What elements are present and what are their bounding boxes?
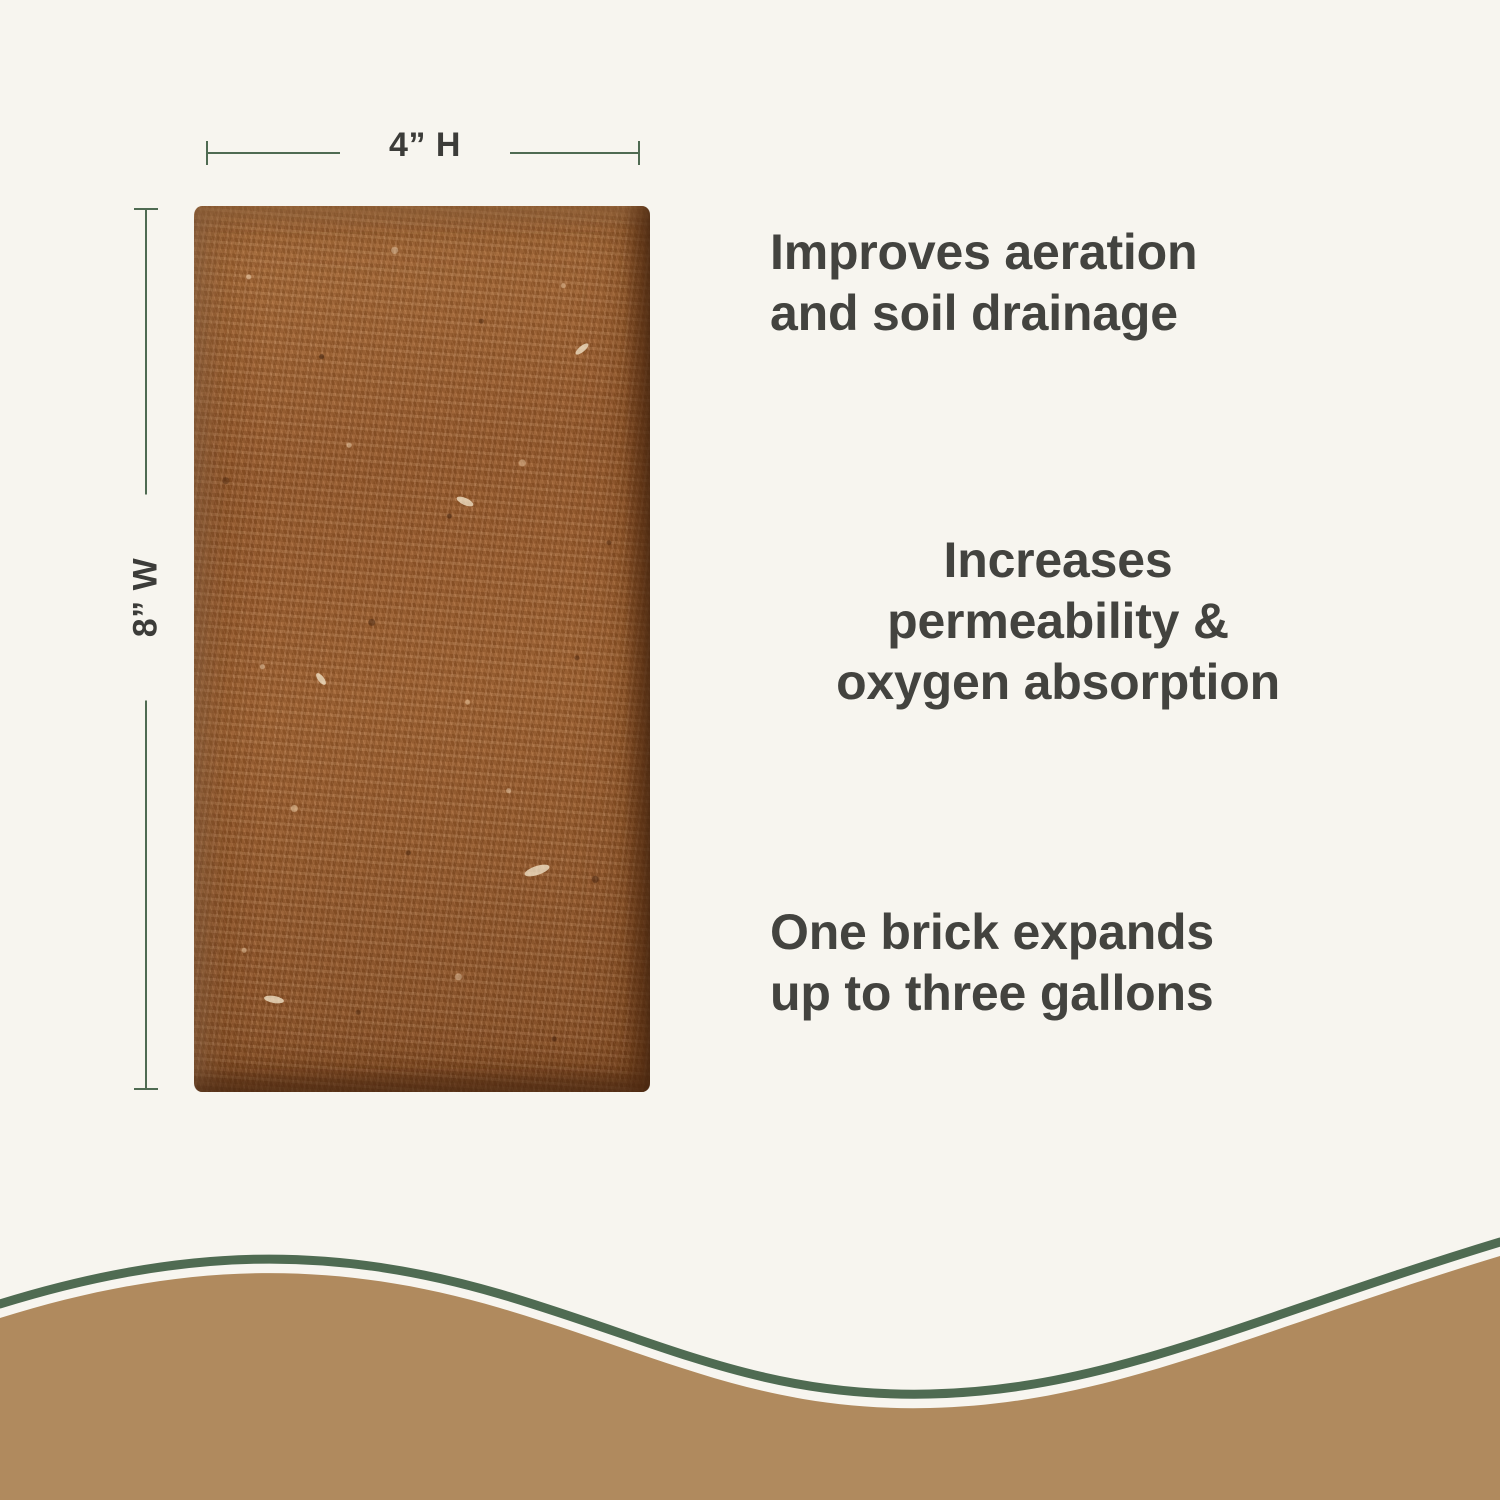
brick-right-edge bbox=[624, 206, 650, 1092]
height-dimension-cap-bottom bbox=[134, 1088, 158, 1090]
brick-fiber-fleck bbox=[455, 495, 474, 509]
feature-2-line-1: Increases bbox=[738, 530, 1378, 591]
brick-fiber-fleck bbox=[314, 672, 327, 687]
brick-top-edge bbox=[194, 206, 650, 222]
feature-1-line-1: Improves aeration bbox=[770, 222, 1390, 283]
product-infographic: 4” H 8” W Improves aeration and soil dra… bbox=[0, 0, 1500, 1500]
width-dimension-label: 4” H bbox=[340, 126, 510, 165]
feature-text-permeability: Increases permeability & oxygen absorpti… bbox=[738, 530, 1378, 713]
brick-fiber-fleck bbox=[264, 994, 285, 1004]
brick-bottom-edge bbox=[194, 1070, 650, 1092]
feature-2-line-3: oxygen absorption bbox=[738, 652, 1378, 713]
feature-3-line-1: One brick expands bbox=[770, 902, 1390, 963]
width-dimension-cap-left bbox=[206, 141, 208, 165]
height-dimension-label: 8” W bbox=[123, 495, 170, 701]
feature-3-line-2: up to three gallons bbox=[770, 963, 1390, 1024]
height-dimension-cap-top bbox=[134, 208, 158, 210]
brick-fiber-fleck bbox=[523, 862, 551, 879]
bottom-wave-decoration bbox=[0, 1200, 1500, 1500]
feature-2-line-2: permeability & bbox=[738, 591, 1378, 652]
coco-coir-brick-image bbox=[194, 206, 650, 1092]
width-dimension-cap-right bbox=[638, 141, 640, 165]
feature-text-aeration: Improves aeration and soil drainage bbox=[770, 222, 1390, 344]
feature-1-line-2: and soil drainage bbox=[770, 283, 1390, 344]
brick-fiber-fleck bbox=[574, 342, 590, 357]
feature-text-expansion: One brick expands up to three gallons bbox=[770, 902, 1390, 1024]
